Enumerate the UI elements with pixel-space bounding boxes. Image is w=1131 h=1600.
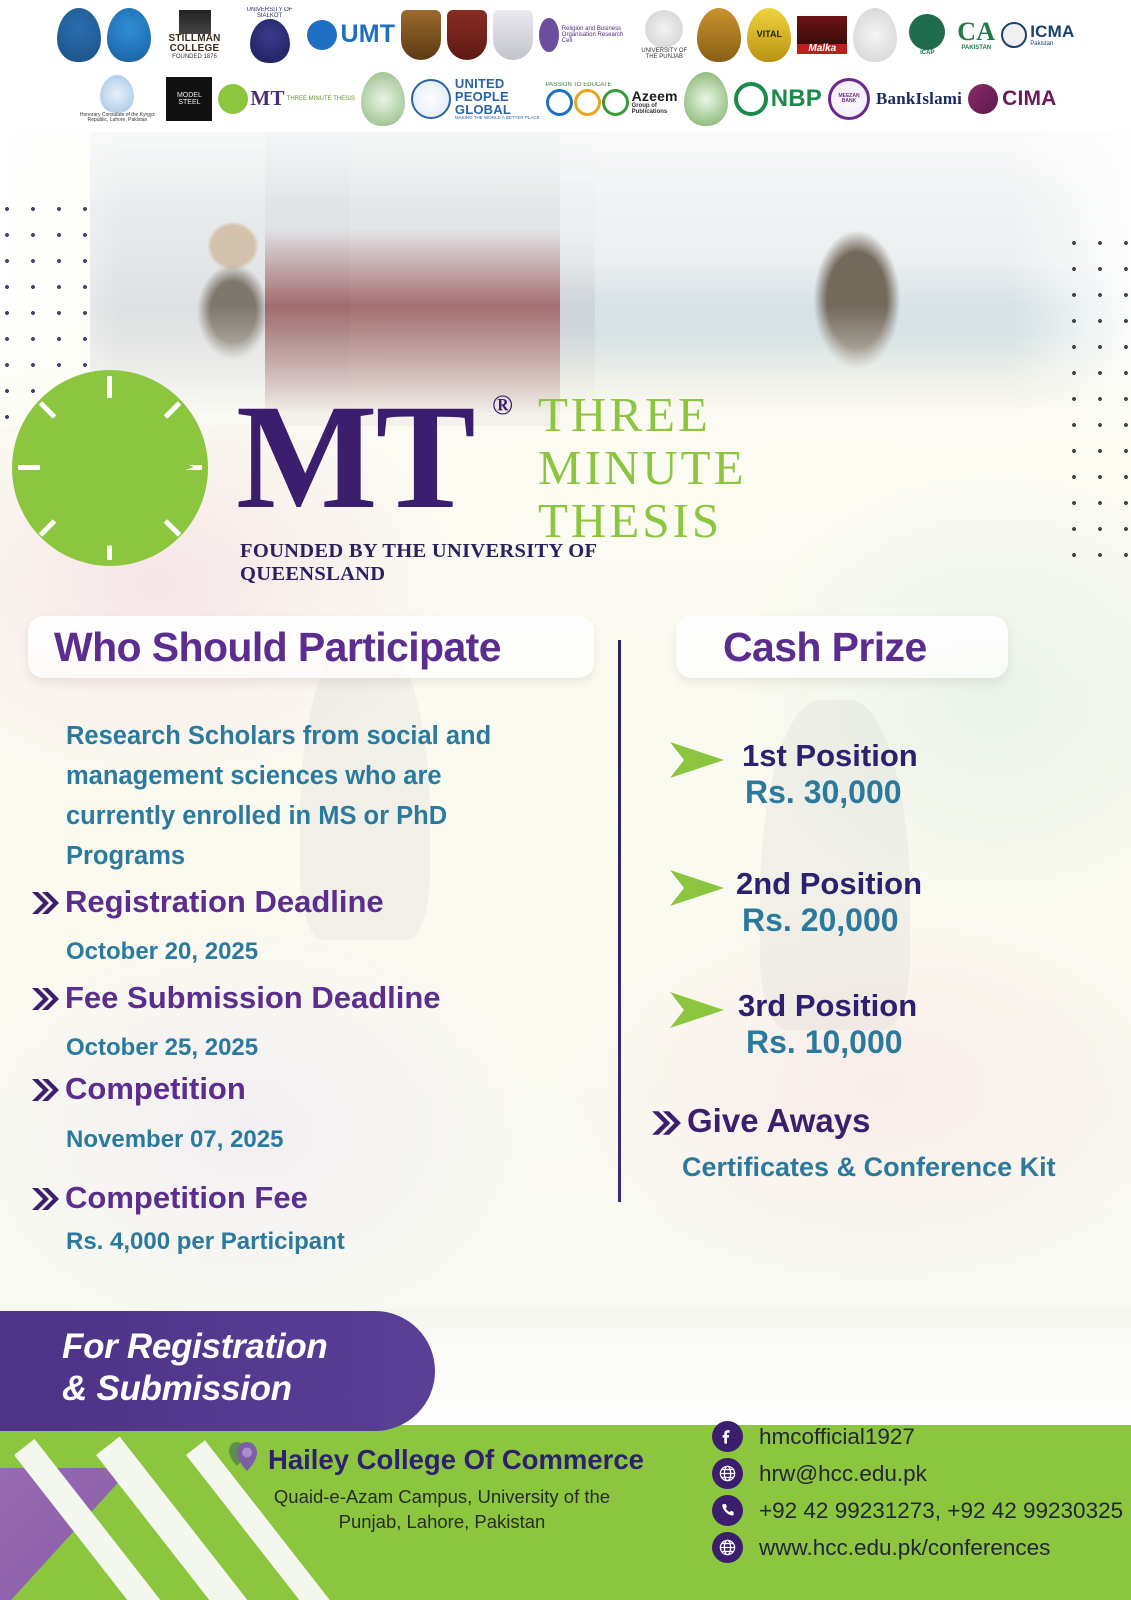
facebook-icon xyxy=(712,1421,743,1452)
sponsor-logo-strip: STILLMAN COLLEGE FOUNDED 1876 UNIVERSITY… xyxy=(0,0,1131,132)
list-item-title: Competition Fee xyxy=(30,1180,308,1215)
decorative-dot-grid-right xyxy=(1061,230,1131,560)
prize-position-label: 2nd Position xyxy=(736,866,922,902)
list-item-competition-fee-value: Rs. 4,000 per Participant xyxy=(66,1228,345,1256)
logo-three-minute-thesis-text: THREE MINUTE THESIS xyxy=(538,388,747,547)
giveaways-title: Give Aways xyxy=(650,1102,870,1140)
registration-line-1: For Registration xyxy=(62,1326,328,1368)
sponsor-row-2: Honorary Consulate of the Kyrgyz Republi… xyxy=(0,70,1131,128)
cash-prize-heading: Cash Prize xyxy=(723,624,927,671)
registration-pill-text: For Registration & Submission xyxy=(62,1326,328,1410)
globe-icon xyxy=(712,1532,743,1563)
list-item-label: Fee Submission Deadline xyxy=(65,980,441,1015)
list-item-label: Competition Fee xyxy=(65,1180,308,1215)
sponsor-logo-meezan-bank: MEEZAN BANK xyxy=(828,78,870,120)
sponsor-logo-honorary-consulate-kyrgyz: Honorary Consulate of the Kyrgyz Republi… xyxy=(74,75,160,124)
prize-item-1: 1st Position Rs. 30,000 xyxy=(742,738,918,811)
list-item-competition-value: November 07, 2025 xyxy=(66,1126,283,1154)
contact-text: hrw@hcc.edu.pk xyxy=(759,1461,927,1487)
list-item-competition-fee: Competition Fee xyxy=(30,1180,308,1216)
globe-icon xyxy=(712,1458,743,1489)
sponsor-logo-bankislami: BankIslami xyxy=(876,90,962,107)
sponsor-logo-crest-shield-4 xyxy=(697,8,741,62)
sponsor-logo-agp-azeem-group: PASSION TO EDUCATE Azeem Group of Public… xyxy=(546,82,678,116)
contact-list: hmcofficial1927 hrw@hcc.edu.pk +92 42 99… xyxy=(712,1418,1123,1566)
green-arrow-icon-3 xyxy=(668,988,726,1032)
participate-intro-text: Research Scholars from social and manage… xyxy=(66,716,556,876)
sponsor-logo-crest-shield-1 xyxy=(401,10,441,60)
sponsor-logo-university-of-sialkot: UNIVERSITY OF SIALKOT xyxy=(239,7,301,64)
sponsor-logo-university-of-the-punjab: UNIVERSITY OF THE PUNJAB xyxy=(637,10,691,61)
registration-line-2: & Submission xyxy=(62,1368,328,1410)
sponsor-logo-university-crest-2 xyxy=(107,8,151,62)
contact-text: www.hcc.edu.pk/conferences xyxy=(759,1535,1050,1561)
list-item-registration-deadline: Registration Deadline xyxy=(30,884,384,920)
sponsor-logo-nbp: NBP xyxy=(734,82,822,116)
logo-word-minute: MINUTE xyxy=(538,441,747,494)
list-item-label: Registration Deadline xyxy=(65,884,384,919)
sponsor-logo-govt-of-punjab xyxy=(361,72,405,126)
phone-icon xyxy=(712,1495,743,1526)
contact-text: hmcofficial1927 xyxy=(759,1424,915,1450)
prize-amount-label: Rs. 30,000 xyxy=(745,774,918,811)
double-chevron-icon xyxy=(30,1077,60,1103)
location-pin-icon xyxy=(228,1440,262,1478)
logo-founded-by-text: FOUNDED BY THE UNIVERSITY OF QUEENSLAND xyxy=(240,540,728,586)
prize-position-label: 3rd Position xyxy=(738,988,917,1024)
participate-heading: Who Should Participate xyxy=(54,624,501,671)
sponsor-logo-umt: UMT xyxy=(307,20,396,50)
sponsor-logo-icap: ICAP xyxy=(903,14,951,56)
logo-mt-text: MT xyxy=(236,382,474,532)
address-line-2: Punjab, Lahore, Pakistan xyxy=(262,1509,622,1534)
list-item-fee-submission-deadline-value: October 25, 2025 xyxy=(66,1034,258,1062)
double-chevron-icon xyxy=(30,890,60,916)
list-item-fee-submission-deadline: Fee Submission Deadline xyxy=(30,980,441,1016)
giveaways-value: Certificates & Conference Kit xyxy=(682,1152,1056,1183)
list-item-label: Competition xyxy=(65,1071,246,1106)
sponsor-logo-university-crest-1 xyxy=(57,8,101,62)
double-chevron-icon xyxy=(30,986,60,1012)
contact-row-phone[interactable]: +92 42 99231273, +92 42 99230325 xyxy=(712,1492,1123,1529)
sponsor-logo-crest-shield-3 xyxy=(493,10,533,60)
address-line-1: Quaid-e-Azam Campus, University of the xyxy=(262,1484,622,1509)
sponsor-logo-crest-shield-5 xyxy=(853,8,897,62)
sponsor-logo-icma-pakistan: ICMA Pakistan xyxy=(1001,22,1074,48)
prize-item-2: 2nd Position Rs. 20,000 xyxy=(736,866,922,939)
contact-row-website[interactable]: www.hcc.edu.pk/conferences xyxy=(712,1529,1123,1566)
contact-row-facebook[interactable]: hmcofficial1927 xyxy=(712,1418,1123,1455)
college-name: Hailey College Of Commerce xyxy=(268,1444,644,1476)
contact-text: +92 42 99231273, +92 42 99230325 xyxy=(759,1498,1123,1524)
registered-trademark-icon: ® xyxy=(492,390,513,422)
list-item-title: Registration Deadline xyxy=(30,884,384,919)
sponsor-logo-cima: CIMA xyxy=(968,84,1056,114)
sponsor-logo-religion-business-research-cell: Religion and Business Organisation Resea… xyxy=(539,18,631,52)
double-chevron-icon xyxy=(30,1186,60,1212)
column-divider xyxy=(618,640,621,1202)
list-item-competition: Competition xyxy=(30,1071,246,1107)
list-item-title: Competition xyxy=(30,1071,246,1106)
college-address: Quaid-e-Azam Campus, University of the P… xyxy=(262,1484,622,1534)
sponsor-logo-ca-pakistan: CA PAKISTAN xyxy=(957,19,995,52)
double-chevron-icon xyxy=(650,1109,682,1137)
sponsor-logo-3mt: MT THREE MINUTE THESIS xyxy=(218,84,354,114)
list-item-registration-deadline-value: October 20, 2025 xyxy=(66,938,258,966)
sponsor-logo-stillman-college: STILLMAN COLLEGE FOUNDED 1876 xyxy=(157,10,233,61)
three-minute-thesis-logo: 3 MT ® THREE MINUTE THESIS FOUNDED BY TH… xyxy=(8,362,728,590)
sponsor-logo-united-people-global: UNITED PEOPLE GLOBAL MAKING THE WORLD A … xyxy=(411,77,540,121)
green-arrow-icon-1 xyxy=(668,738,726,782)
prize-amount-label: Rs. 20,000 xyxy=(742,902,922,939)
sponsor-logo-green-crest xyxy=(684,72,728,126)
sponsor-logo-malka: Malka xyxy=(797,16,847,54)
sponsor-logo-vital: VITAL xyxy=(747,8,791,62)
sponsor-row-1: STILLMAN COLLEGE FOUNDED 1876 UNIVERSITY… xyxy=(0,0,1131,70)
poster-root: STILLMAN COLLEGE FOUNDED 1876 UNIVERSITY… xyxy=(0,0,1131,1600)
logo-word-three: THREE xyxy=(538,388,747,441)
list-item-title: Fee Submission Deadline xyxy=(30,980,441,1015)
prize-amount-label: Rs. 10,000 xyxy=(746,1024,917,1061)
sponsor-logo-crest-shield-2 xyxy=(447,10,487,60)
prize-item-3: 3rd Position Rs. 10,000 xyxy=(738,988,917,1061)
prize-position-label: 1st Position xyxy=(742,738,918,774)
green-arrow-icon-2 xyxy=(668,866,726,910)
sponsor-logo-model-steel: MODEL STEEL xyxy=(166,77,212,121)
giveaways-label: Give Aways xyxy=(687,1102,870,1139)
contact-row-email[interactable]: hrw@hcc.edu.pk xyxy=(712,1455,1123,1492)
